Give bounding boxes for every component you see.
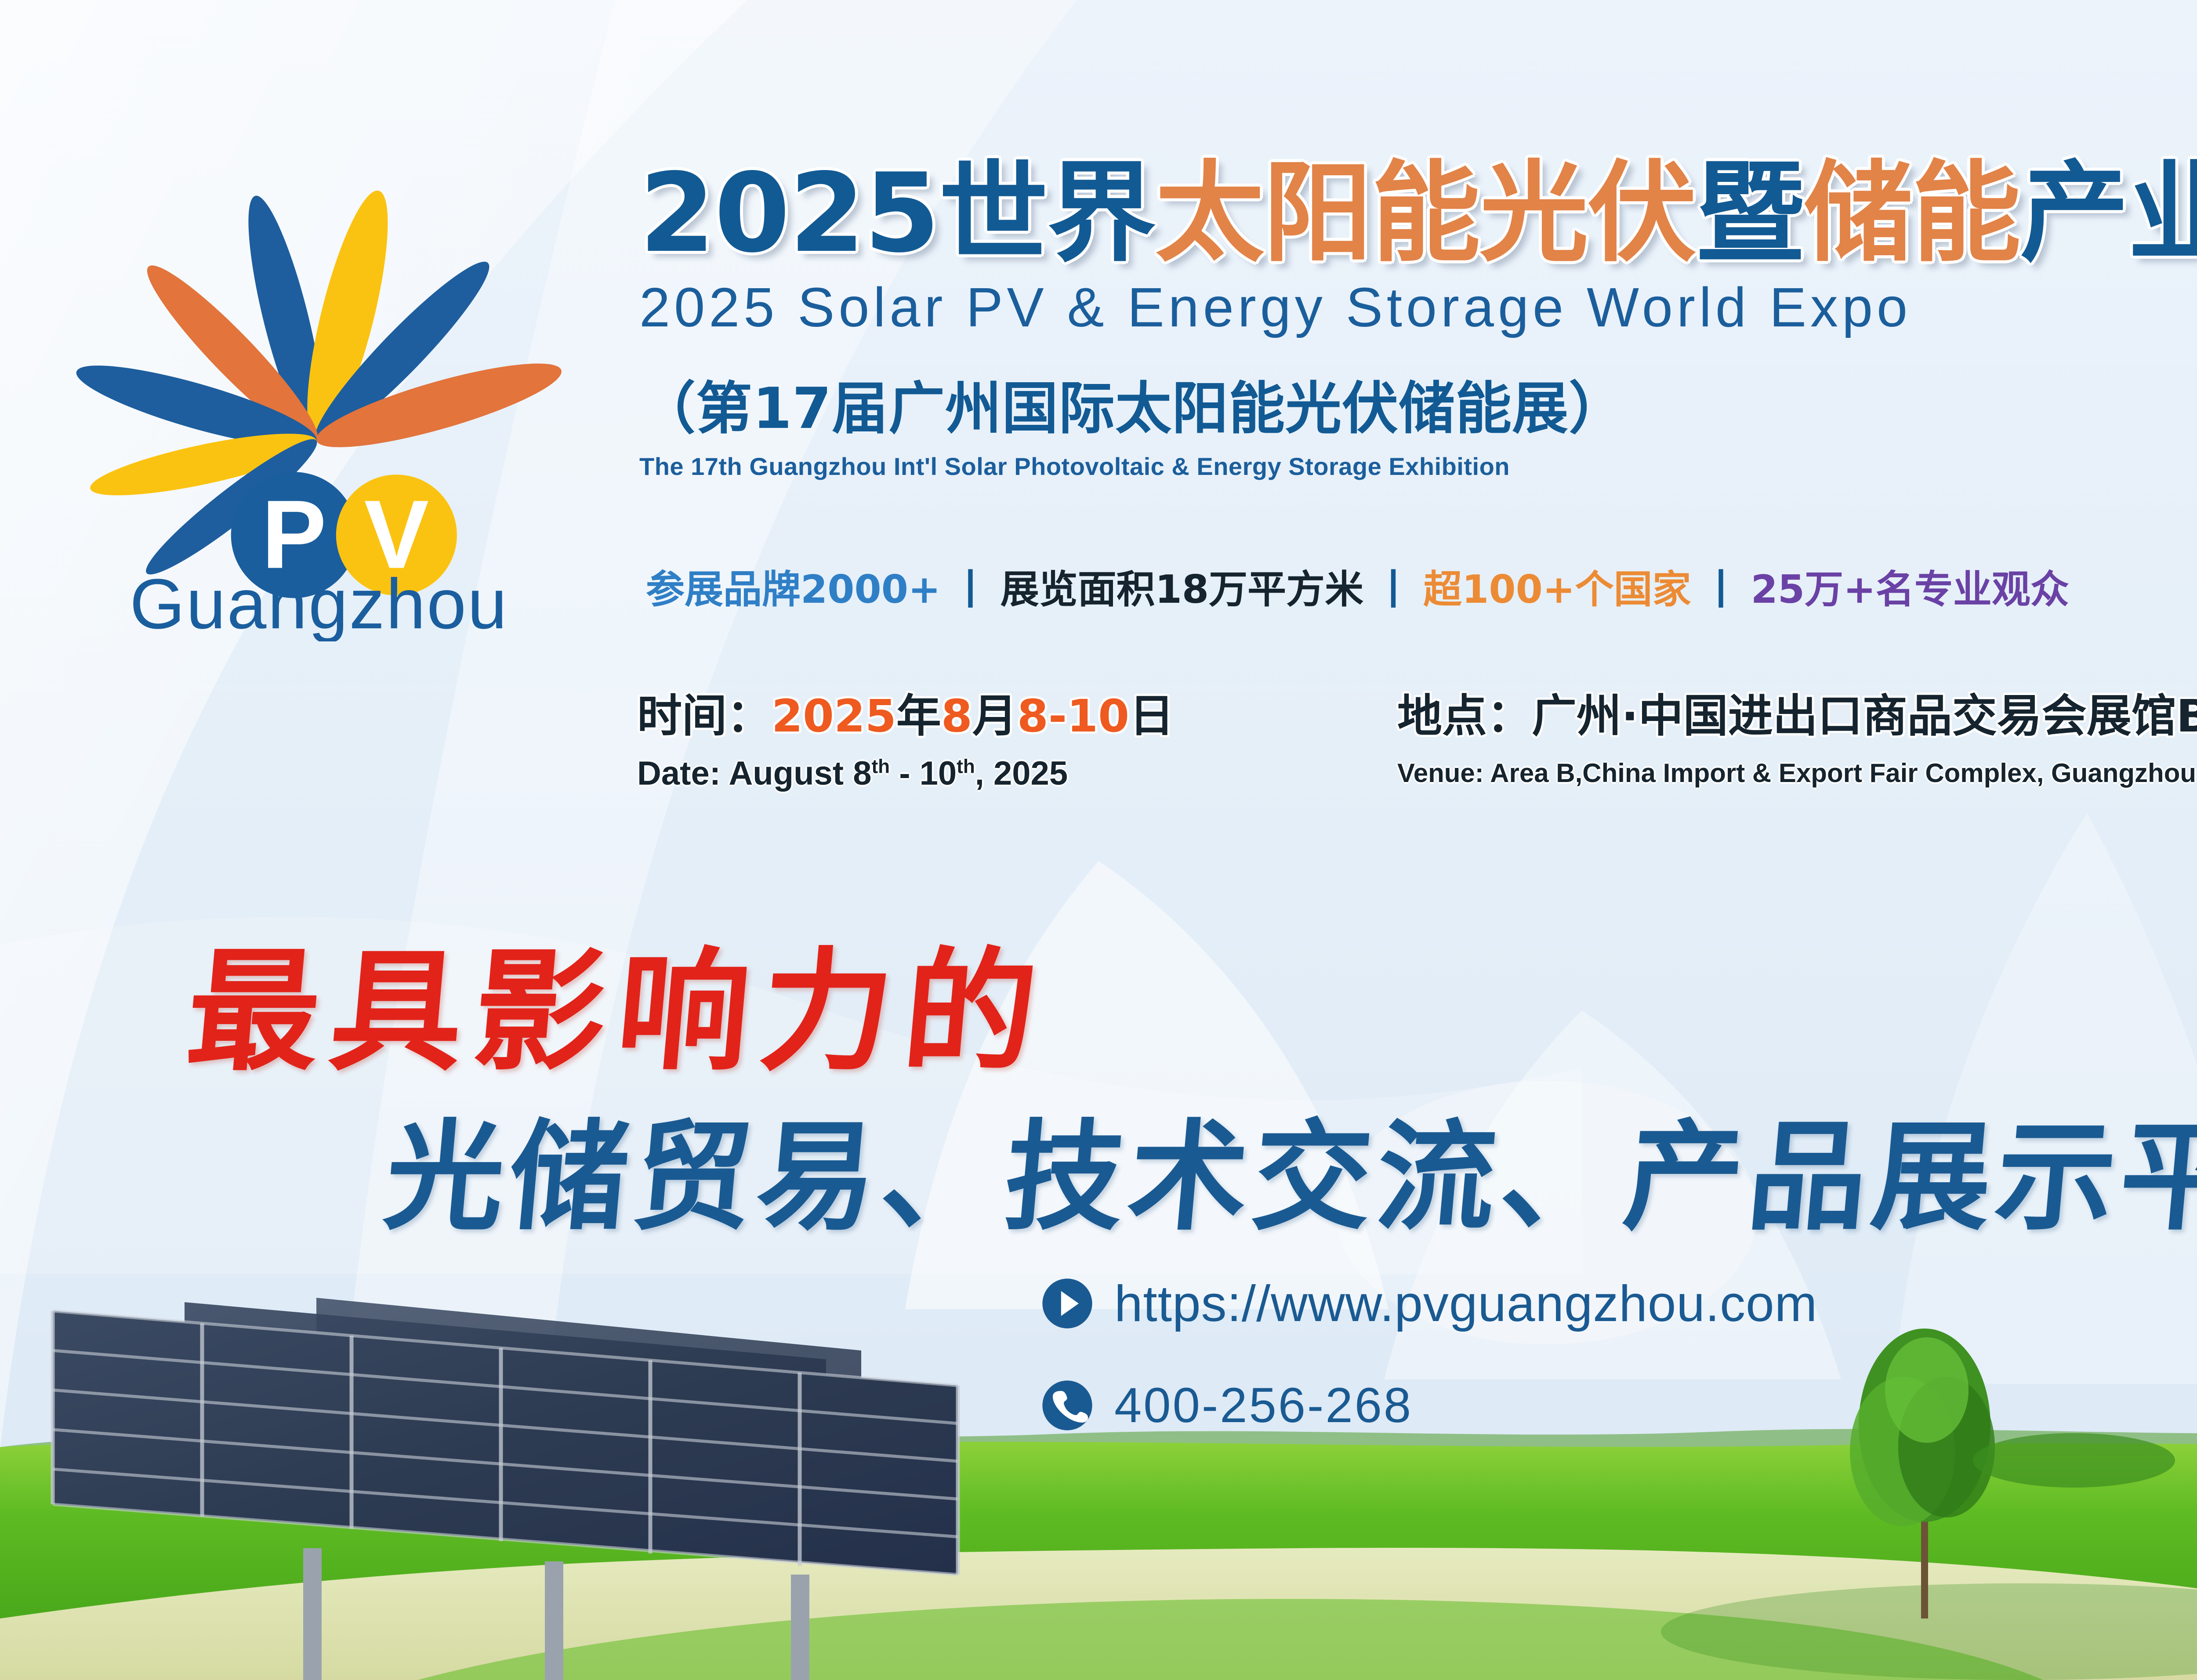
date-year-unit: 年 xyxy=(896,690,941,742)
date-en-sup1: th xyxy=(871,756,890,778)
stat-separator-1: 丨 xyxy=(950,557,991,616)
main-title-en: 2025 Solar PV & Energy Storage World Exp… xyxy=(639,275,2197,339)
title-seg-4: 储能 xyxy=(1804,150,2020,277)
title-seg-1: 2025世界 xyxy=(639,150,1155,277)
date-year: 2025 xyxy=(772,690,896,742)
title-seg-5: 产业博览会 xyxy=(2020,150,2197,277)
date-day-range: 8-10 xyxy=(1017,690,1129,742)
landscape-scene xyxy=(0,1241,2197,1680)
date-en-day1: 8 xyxy=(853,755,871,792)
slogan-line-2: 光储贸易、技术交流、产品展示平台! xyxy=(379,1081,2197,1253)
stat-item-brands: 参展品牌2000+ xyxy=(646,558,941,614)
date-label-en: Date: August xyxy=(637,755,853,792)
stat-separator-3: 丨 xyxy=(1701,557,1741,616)
promotional-banner: P V Guangzhou 2025世界太阳能光伏暨储能产业博览会 2025 S… xyxy=(0,0,2197,1680)
stat-item-area: 展览面积18万平方米 xyxy=(1001,558,1363,614)
venue-value-cn: 广州·中国进出口商品交易会展馆B区 xyxy=(1532,690,2197,742)
date-en-mid: - xyxy=(890,755,920,792)
date-month: 8 xyxy=(941,690,972,742)
stat-separator-2: 丨 xyxy=(1373,557,1414,616)
date-label-cn: 时间： xyxy=(637,690,772,742)
slogan-line-1: 最具影响力的 xyxy=(181,905,1057,1096)
date-line-cn: 时间：2025年8月8-10日 xyxy=(637,680,1174,745)
venue-line-en: Venue: Area B,China Import & Export Fair… xyxy=(1397,758,2197,788)
date-day-unit: 日 xyxy=(1129,690,1174,742)
date-line-en: Date: August 8th - 10th, 2025 xyxy=(637,754,1174,793)
date-block: 时间：2025年8月8-10日 Date: August 8th - 10th,… xyxy=(637,680,1174,793)
logo-wordmark: Guangzhou xyxy=(130,565,508,641)
header-block: 2025世界太阳能光伏暨储能产业博览会 2025 Solar PV & Ener… xyxy=(639,158,2197,481)
date-en-sup2: th xyxy=(957,756,975,778)
date-en-day2: 10 xyxy=(920,755,957,792)
date-month-unit: 月 xyxy=(972,690,1017,742)
subtitle-cn: （第17届广州国际太阳能光伏储能展） xyxy=(639,363,2197,444)
title-seg-2: 太阳能光伏 xyxy=(1155,150,1696,277)
title-seg-3: 暨 xyxy=(1696,150,1804,277)
main-title-cn: 2025世界太阳能光伏暨储能产业博览会 xyxy=(639,158,2197,269)
venue-label-cn: 地点： xyxy=(1397,690,1532,742)
venue-line-cn: 地点：广州·中国进出口商品交易会展馆B区 xyxy=(1397,680,2197,745)
subtitle-en: The 17th Guangzhou Int'l Solar Photovolt… xyxy=(639,452,2197,481)
venue-block: 地点：广州·中国进出口商品交易会展馆B区 Venue: Area B,China… xyxy=(1397,680,2197,788)
stat-item-visitors: 25万+名专业观众 xyxy=(1751,558,2069,614)
date-en-tail: , 2025 xyxy=(975,755,1068,792)
pv-guangzhou-logo: P V Guangzhou xyxy=(40,145,593,641)
logo-graphic: P V Guangzhou xyxy=(40,145,593,641)
stat-item-countries: 超100+个国家 xyxy=(1423,558,1691,614)
stats-row: 参展品牌2000+ 丨 展览面积18万平方米 丨 超100+个国家 丨 25万+… xyxy=(646,557,2069,616)
